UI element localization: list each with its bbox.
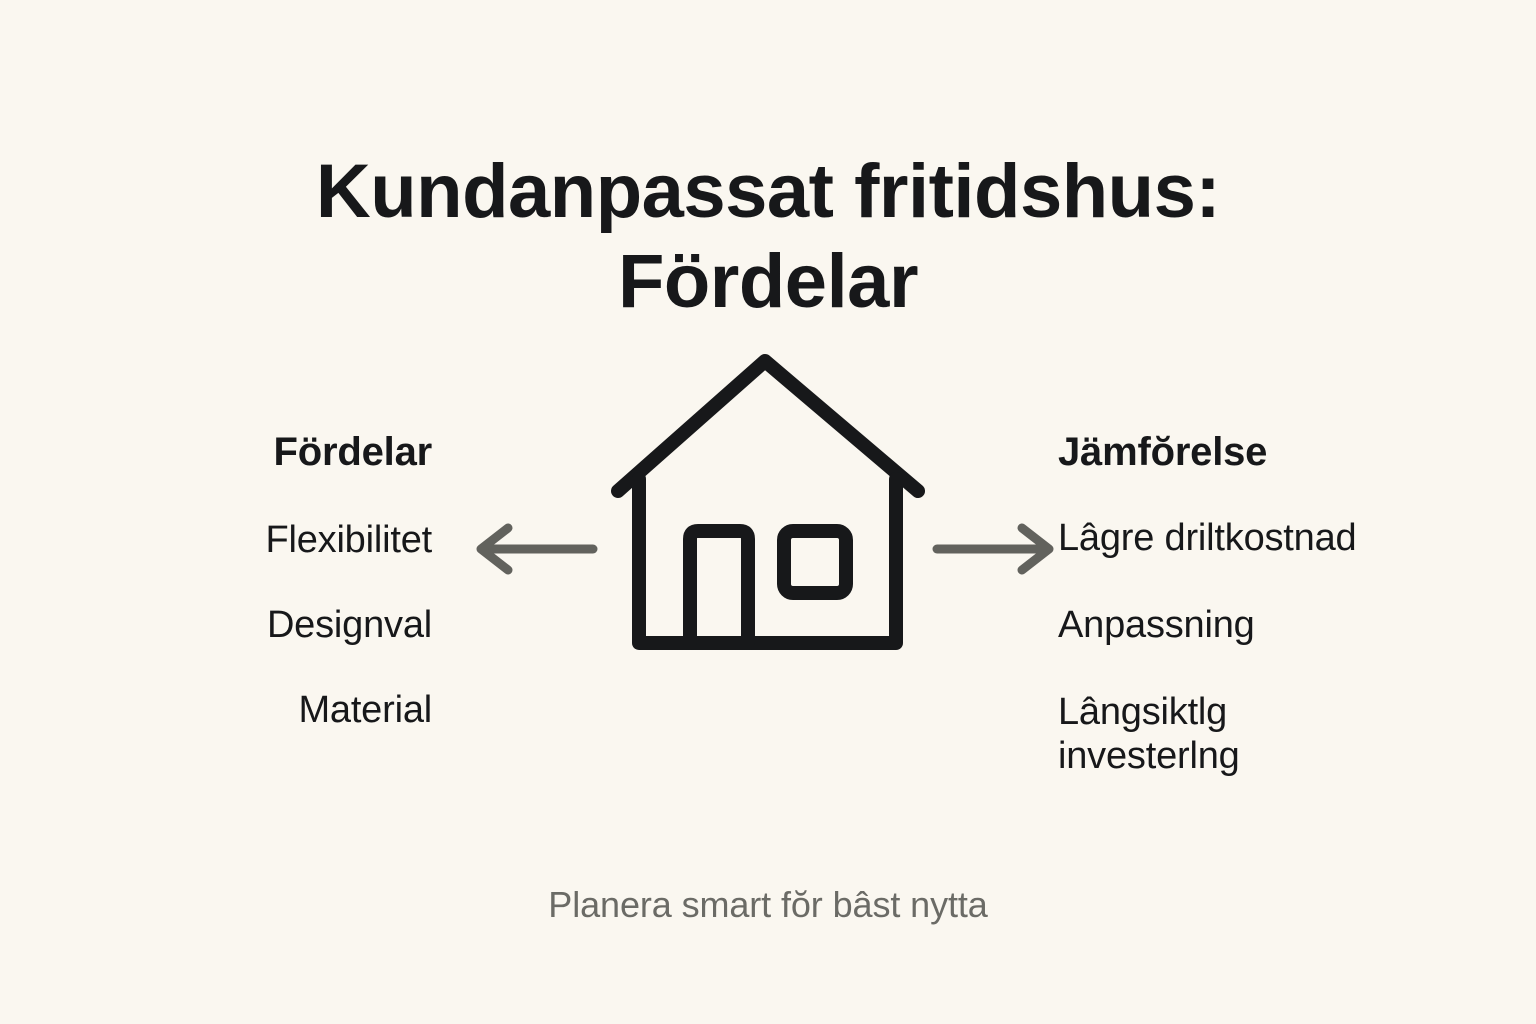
arrow-left-icon <box>472 523 598 575</box>
page-title: Kundanpassat fritidshus: Fördelar <box>0 147 1536 328</box>
right-column-item-3: Lângsiktlg investerlng <box>1058 690 1488 780</box>
left-column-heading: Fördelar <box>120 430 432 474</box>
right-column-heading: Jämfŏrelse <box>1058 430 1488 474</box>
right-column-item-1: Lâgre driltkostnad <box>1058 516 1488 561</box>
left-column: Fördelar Flexibilitet Designval Material <box>120 430 432 732</box>
left-column-item-3: Material <box>120 688 432 733</box>
arrow-right-icon <box>932 523 1058 575</box>
right-column: Jämfŏrelse Lâgre driltkostnad Anpassning… <box>1058 430 1488 779</box>
left-column-item-1: Flexibilitet <box>120 518 432 563</box>
house-icon <box>598 345 938 665</box>
right-column-item-2: Anpassning <box>1058 603 1488 648</box>
footer-caption: Planera smart fŏr bâst nytta <box>0 884 1536 926</box>
left-column-item-2: Designval <box>120 603 432 648</box>
slide-canvas: Kundanpassat fritidshus: Fördelar Fördel… <box>0 0 1536 1024</box>
